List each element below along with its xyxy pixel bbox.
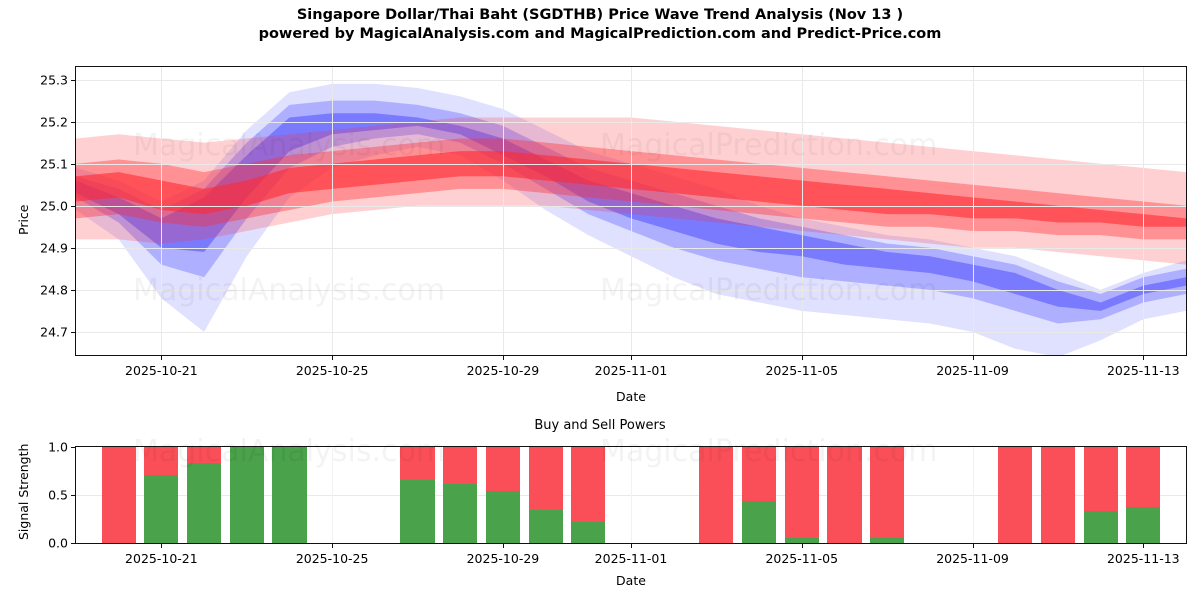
chart-page: Singapore Dollar/Thai Baht (SGDTHB) Pric… bbox=[0, 0, 1200, 600]
buy-power-segment bbox=[230, 447, 264, 543]
signal-xtick-mark bbox=[1143, 544, 1144, 548]
signal-gridline-vertical bbox=[631, 447, 632, 543]
price-ytick-label: 25.2 bbox=[8, 114, 68, 129]
price-gridline-vertical bbox=[332, 67, 333, 355]
buy-power-segment bbox=[571, 522, 605, 543]
price-gridline-vertical bbox=[631, 67, 632, 355]
price-ytick-mark bbox=[71, 248, 75, 249]
signal-xtick-label: 2025-10-29 bbox=[467, 551, 540, 566]
price-gridline-vertical bbox=[1143, 67, 1144, 355]
sell-power-segment bbox=[827, 447, 861, 543]
signal-xtick-label: 2025-11-13 bbox=[1107, 551, 1180, 566]
signal-bar[interactable] bbox=[998, 447, 1032, 543]
buy-power-segment bbox=[144, 475, 178, 543]
price-xtick-mark bbox=[332, 356, 333, 360]
price-ytick-mark bbox=[71, 290, 75, 291]
buy-power-segment bbox=[870, 538, 904, 543]
price-ytick-mark bbox=[71, 122, 75, 123]
signal-xtick-label: 2025-11-01 bbox=[595, 551, 668, 566]
signal-bar[interactable] bbox=[827, 447, 861, 543]
buy-power-segment bbox=[742, 501, 776, 543]
sell-power-segment bbox=[400, 447, 434, 480]
sell-power-segment bbox=[785, 447, 819, 538]
signal-xtick-label: 2025-11-05 bbox=[765, 551, 838, 566]
signal-bar[interactable] bbox=[230, 447, 264, 543]
buy-power-segment bbox=[785, 538, 819, 543]
buy-sell-date-axis-label: Date bbox=[531, 573, 731, 588]
buy-power-segment bbox=[400, 480, 434, 543]
buy-power-segment bbox=[272, 447, 306, 543]
price-gridline-vertical bbox=[802, 67, 803, 355]
signal-bar[interactable] bbox=[785, 447, 819, 543]
page-subtitle: powered by MagicalAnalysis.com and Magic… bbox=[0, 25, 1200, 44]
signal-bar[interactable] bbox=[443, 447, 477, 543]
price-ytick-label: 24.8 bbox=[8, 282, 68, 297]
sell-power-segment bbox=[529, 447, 563, 510]
price-xtick-mark bbox=[161, 356, 162, 360]
signal-bar[interactable] bbox=[1084, 447, 1118, 543]
signal-bar[interactable] bbox=[486, 447, 520, 543]
signal-ytick-mark bbox=[71, 447, 75, 448]
price-xtick-label: 2025-11-09 bbox=[936, 363, 1009, 378]
signal-xtick-label: 2025-10-21 bbox=[125, 551, 198, 566]
signal-ytick-mark bbox=[71, 543, 75, 544]
price-ytick-label: 24.9 bbox=[8, 240, 68, 255]
signal-bar[interactable] bbox=[699, 447, 733, 543]
sell-power-segment bbox=[144, 447, 178, 475]
price-xtick-mark bbox=[802, 356, 803, 360]
signal-xtick-mark bbox=[161, 544, 162, 548]
price-xtick-mark bbox=[631, 356, 632, 360]
price-xtick-label: 2025-10-25 bbox=[296, 363, 369, 378]
price-ytick-label: 24.7 bbox=[8, 324, 68, 339]
buy-power-segment bbox=[529, 510, 563, 543]
sell-power-segment bbox=[486, 447, 520, 491]
sell-power-segment bbox=[998, 447, 1032, 543]
sell-power-segment bbox=[443, 447, 477, 484]
price-xtick-label: 2025-11-05 bbox=[765, 363, 838, 378]
price-ytick-label: 25.3 bbox=[8, 72, 68, 87]
signal-bar[interactable] bbox=[272, 447, 306, 543]
sell-power-segment bbox=[1126, 447, 1160, 507]
signal-xtick-mark bbox=[631, 544, 632, 548]
buy-power-segment bbox=[1084, 511, 1118, 543]
signal-bar[interactable] bbox=[870, 447, 904, 543]
price-xtick-label: 2025-11-13 bbox=[1107, 363, 1180, 378]
signal-strength-axis-label: Signal Strength bbox=[16, 444, 31, 540]
price-ytick-mark bbox=[71, 206, 75, 207]
signal-bar[interactable] bbox=[400, 447, 434, 543]
price-xtick-label: 2025-10-29 bbox=[467, 363, 540, 378]
signal-xtick-mark bbox=[802, 544, 803, 548]
sell-power-segment bbox=[1084, 447, 1118, 511]
signal-bar[interactable] bbox=[571, 447, 605, 543]
price-wave-plot-area bbox=[75, 66, 1187, 356]
sell-power-segment bbox=[102, 447, 136, 543]
signal-xtick-label: 2025-11-09 bbox=[936, 551, 1009, 566]
buy-power-segment bbox=[187, 463, 221, 543]
price-xtick-mark bbox=[1143, 356, 1144, 360]
price-ytick-mark bbox=[71, 80, 75, 81]
price-date-axis-label: Date bbox=[531, 389, 731, 404]
price-xtick-label: 2025-10-21 bbox=[125, 363, 198, 378]
sell-power-segment bbox=[699, 447, 733, 543]
buy-sell-plot-area bbox=[75, 446, 1187, 544]
signal-xtick-mark bbox=[503, 544, 504, 548]
buy-power-segment bbox=[443, 484, 477, 543]
signal-ytick-mark bbox=[71, 495, 75, 496]
sell-power-segment bbox=[187, 447, 221, 463]
price-xtick-mark bbox=[973, 356, 974, 360]
signal-bar[interactable] bbox=[102, 447, 136, 543]
chart-title-block: Singapore Dollar/Thai Baht (SGDTHB) Pric… bbox=[0, 6, 1200, 44]
sell-power-segment bbox=[1041, 447, 1075, 543]
buy-power-segment bbox=[1126, 507, 1160, 543]
price-ytick-mark bbox=[71, 164, 75, 165]
signal-bar[interactable] bbox=[1041, 447, 1075, 543]
page-title: Singapore Dollar/Thai Baht (SGDTHB) Pric… bbox=[0, 6, 1200, 25]
price-xtick-label: 2025-11-01 bbox=[595, 363, 668, 378]
price-ytick-label: 25.1 bbox=[8, 156, 68, 171]
price-axis-label: Price bbox=[16, 205, 31, 236]
signal-bar[interactable] bbox=[742, 447, 776, 543]
price-ytick-mark bbox=[71, 332, 75, 333]
sell-power-segment bbox=[742, 447, 776, 501]
sell-power-segment bbox=[571, 447, 605, 522]
signal-bar[interactable] bbox=[144, 447, 178, 543]
signal-bar[interactable] bbox=[529, 447, 563, 543]
price-xtick-mark bbox=[503, 356, 504, 360]
signal-gridline-vertical bbox=[332, 447, 333, 543]
price-gridline-vertical bbox=[161, 67, 162, 355]
signal-xtick-label: 2025-10-25 bbox=[296, 551, 369, 566]
signal-bar[interactable] bbox=[187, 447, 221, 543]
signal-xtick-mark bbox=[332, 544, 333, 548]
sell-power-segment bbox=[870, 447, 904, 538]
price-gridline-vertical bbox=[503, 67, 504, 355]
buy-sell-title: Buy and Sell Powers bbox=[0, 418, 1200, 433]
buy-power-segment bbox=[486, 491, 520, 543]
signal-xtick-mark bbox=[973, 544, 974, 548]
price-gridline-vertical bbox=[973, 67, 974, 355]
signal-bar[interactable] bbox=[1126, 447, 1160, 543]
signal-gridline-vertical bbox=[973, 447, 974, 543]
